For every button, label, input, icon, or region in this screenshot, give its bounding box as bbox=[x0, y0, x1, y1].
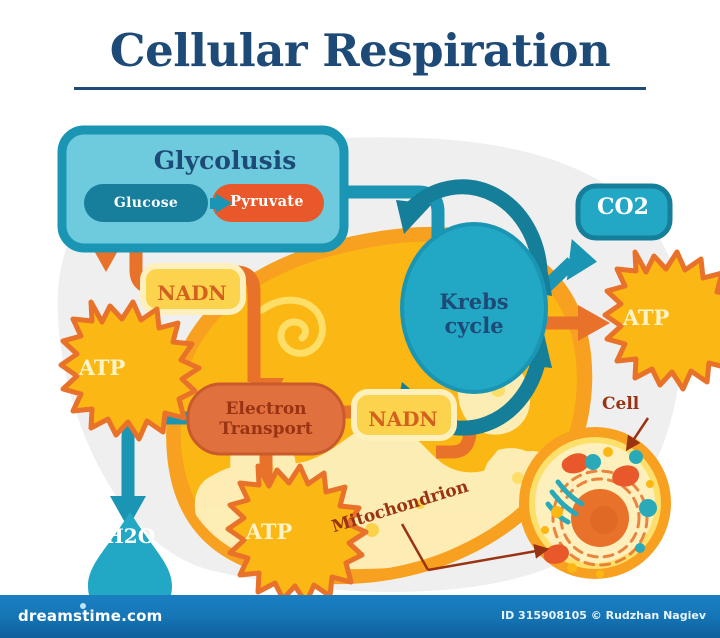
cell-graphic bbox=[519, 427, 671, 579]
dreamstime-logo[interactable]: dreamstime.com bbox=[18, 607, 162, 625]
image-credit: ID 315908105 © Rudzhan Nagiev bbox=[501, 609, 706, 622]
title-area: Cellular Respiration bbox=[0, 28, 720, 90]
glycolysis-box bbox=[62, 130, 344, 248]
footer-bar: dreamstime.com ID 315908105 © Rudzhan Na… bbox=[0, 595, 720, 638]
dreamstime-logo-text: dreamstime.com bbox=[18, 607, 162, 625]
page-title: Cellular Respiration bbox=[0, 28, 720, 73]
glucose-pill bbox=[84, 184, 208, 222]
illustration-canvas: Cellular Respiration bbox=[0, 0, 720, 638]
electron-transport-pill bbox=[188, 384, 344, 454]
co2-pill bbox=[578, 186, 670, 238]
title-divider bbox=[74, 87, 646, 90]
nadn-box-1 bbox=[143, 266, 243, 312]
logo-dot-icon bbox=[80, 603, 86, 609]
atp-starburst-2 bbox=[228, 466, 366, 595]
nadn-box-2 bbox=[354, 392, 454, 438]
diagram-artwork bbox=[0, 100, 720, 595]
